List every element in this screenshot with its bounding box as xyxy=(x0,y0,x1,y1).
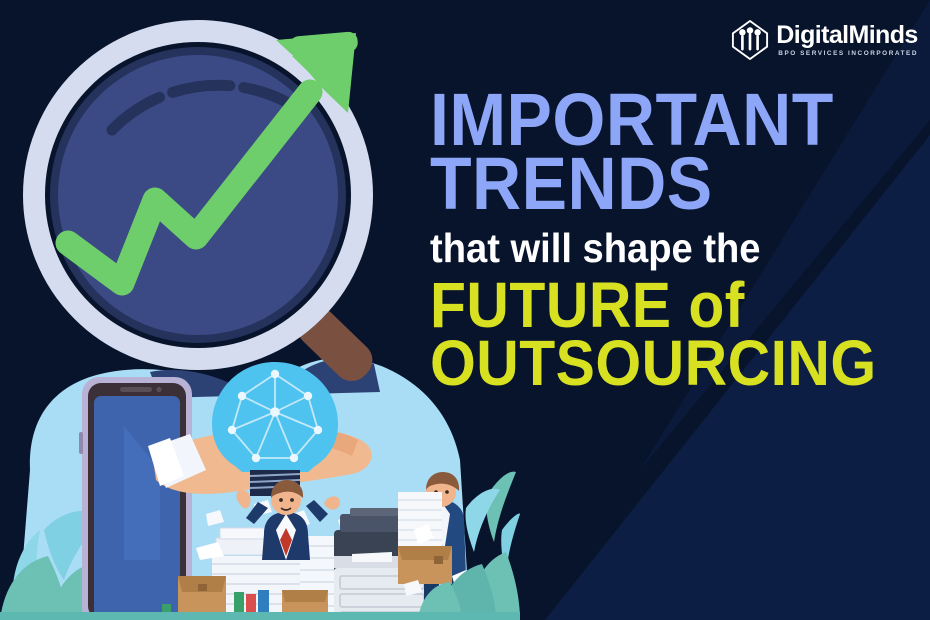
brand-logo[interactable]: DigitalMinds BPO SERVICES INCORPORATED xyxy=(731,20,918,60)
headline-line-future: FUTURE of xyxy=(430,278,872,333)
bottom-accent-strip xyxy=(0,612,520,620)
marketing-banner: DigitalMinds BPO SERVICES INCORPORATED I… xyxy=(0,0,930,620)
logo-tagline: BPO SERVICES INCORPORATED xyxy=(778,51,918,57)
headline-subline: that will shape the xyxy=(430,231,876,266)
headline-block: IMPORTANT TRENDS that will shape the FUT… xyxy=(430,88,910,391)
headline-line-trends: TRENDS xyxy=(430,152,872,216)
logo-wordmark: DigitalMinds xyxy=(776,23,917,48)
headline-line-outsourcing: OUTSOURCING xyxy=(430,336,872,391)
digitalminds-diamond-logo-icon xyxy=(731,20,769,60)
smartphone-device xyxy=(79,377,192,620)
